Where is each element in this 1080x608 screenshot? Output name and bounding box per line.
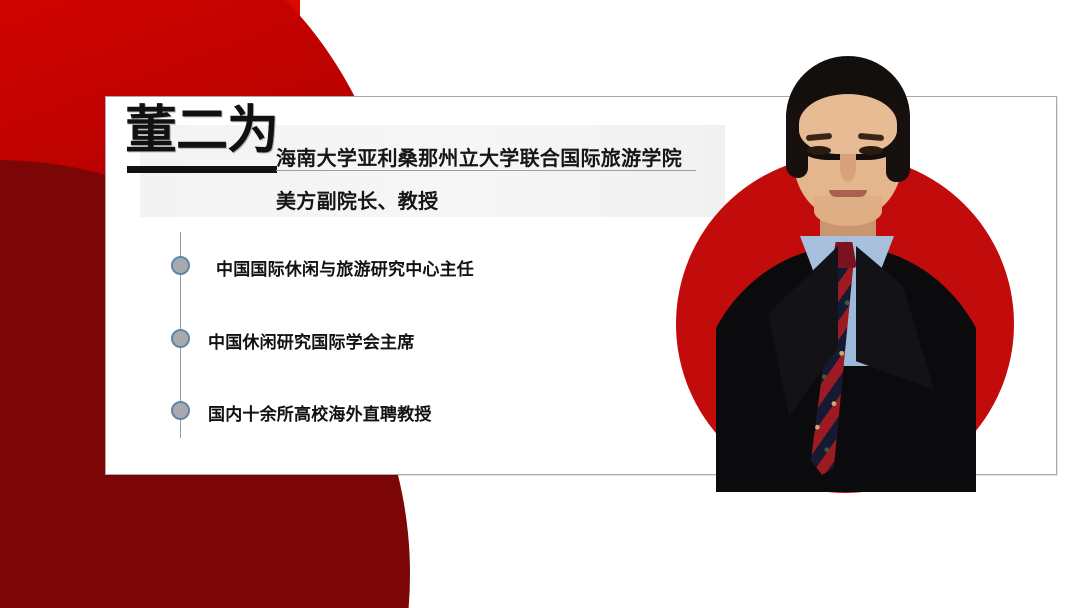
eye-left xyxy=(807,146,831,155)
portrait-photo xyxy=(676,50,1016,492)
organization-divider-rule xyxy=(276,170,696,171)
nose xyxy=(840,154,856,182)
person-name: 董二为 xyxy=(125,105,278,157)
credential-item: 国内十余所高校海外直聘教授 xyxy=(208,400,432,425)
mouth xyxy=(829,190,867,197)
slide-canvas: 董二为 海南大学亚利桑那州立大学联合国际旅游学院 美方副院长、教授 中国国际休闲… xyxy=(0,0,1080,608)
chin xyxy=(814,196,882,226)
organization-line-1: 海南大学亚利桑那州立大学联合国际旅游学院 xyxy=(276,142,682,171)
eye-right xyxy=(859,146,883,155)
forehead xyxy=(799,94,897,154)
organization-line-2: 美方副院长、教授 xyxy=(276,185,438,214)
portrait-person-figure xyxy=(716,50,976,492)
credential-item: 中国休闲研究国际学会主席 xyxy=(208,328,414,353)
bullet-dot-icon xyxy=(171,256,190,275)
bullet-dot-icon xyxy=(171,329,190,348)
name-underline-rule xyxy=(127,166,277,173)
bullet-dot-icon xyxy=(171,401,190,420)
credential-item: 中国国际休闲与旅游研究中心主任 xyxy=(216,255,474,280)
